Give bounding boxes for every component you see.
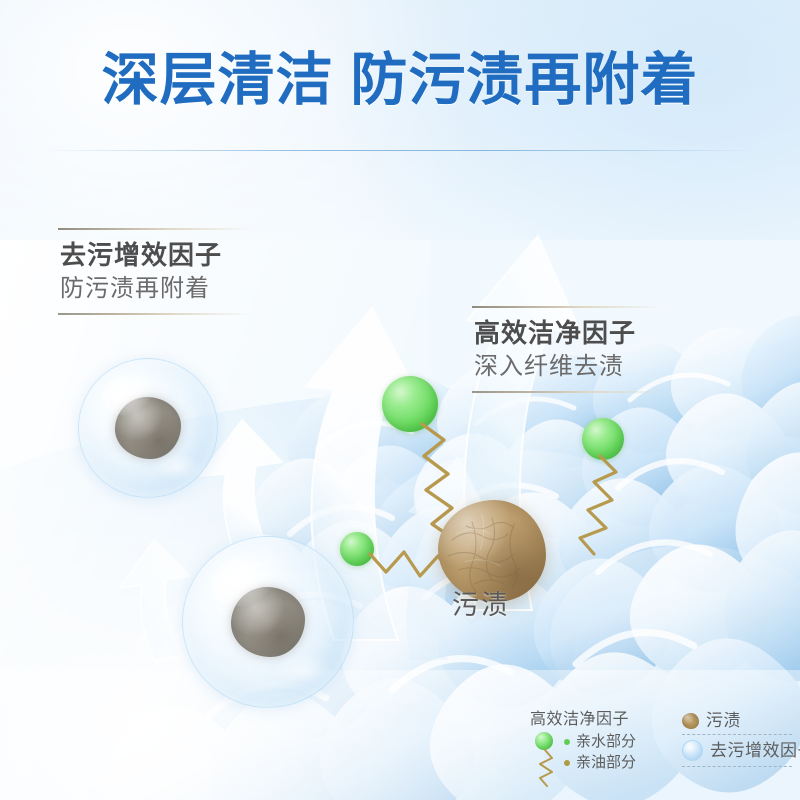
callout-rule-top — [58, 228, 250, 230]
legend-molecule-icon — [532, 732, 562, 786]
legend-item-anti-redeposition: 去污增效因子 — [682, 740, 794, 761]
header-divider — [40, 150, 760, 151]
legend-divider-dashed — [682, 734, 792, 735]
callout-anti-redeposition: 去污增效因子 防污渍再附着 — [58, 228, 250, 315]
anti-redeposition-bubble-upper — [78, 358, 218, 498]
callout-subtitle: 防污渍再附着 — [60, 274, 250, 304]
stain-swatch-icon — [682, 713, 699, 729]
molecule-tail-icon — [536, 748, 558, 788]
callout-title: 去污增效因子 — [60, 239, 250, 272]
legend-molecule-title: 高效洁净因子 — [530, 712, 678, 728]
legend-item-label: 去污增效因子 — [710, 742, 800, 759]
hydrophilic-dot-icon — [564, 739, 570, 745]
callout-subtitle: 深入纤维去渍 — [474, 352, 664, 382]
stain-label: 污渍 — [452, 583, 510, 622]
legend-column-molecule: 高效洁净因子 亲水部分 亲油部分 — [530, 712, 678, 770]
callout-title: 高效洁净因子 — [474, 317, 664, 350]
legend-divider-dashed-bottom — [682, 766, 792, 767]
cleaning-molecule-right — [540, 418, 640, 548]
legend-column-symbols: 污渍 去污增效因子 — [682, 712, 794, 772]
legend-item-label: 亲水部分 — [576, 734, 636, 749]
molecule-tail-lipophilic — [536, 452, 636, 562]
legend-item-stain: 污渍 — [682, 712, 794, 729]
legend-item-label: 污渍 — [706, 712, 741, 729]
legend-item-lipophilic: 亲油部分 — [564, 755, 678, 770]
callout-rule-bottom — [58, 313, 250, 315]
legend-item-hydrophilic: 亲水部分 — [564, 734, 678, 749]
callout-deep-clean: 高效洁净因子 深入纤维去渍 — [472, 306, 664, 393]
lipophilic-dot-icon — [564, 760, 570, 766]
legend: 高效洁净因子 亲水部分 亲油部分 污渍 — [530, 712, 792, 790]
poster-canvas: 深层清洁 防污渍再附着 去污增效因子 防污渍再附着 高效洁净因子 深入纤维去渍 … — [0, 0, 800, 800]
callout-rule-top — [472, 306, 664, 308]
callout-rule-bottom — [472, 391, 664, 393]
page-title: 深层清洁 防污渍再附着 — [0, 52, 800, 109]
header: 深层清洁 防污渍再附着 — [0, 0, 800, 168]
anti-redeposition-bubble-lower — [182, 536, 354, 708]
bubble-swatch-icon — [682, 740, 703, 761]
legend-item-label: 亲油部分 — [576, 755, 636, 770]
